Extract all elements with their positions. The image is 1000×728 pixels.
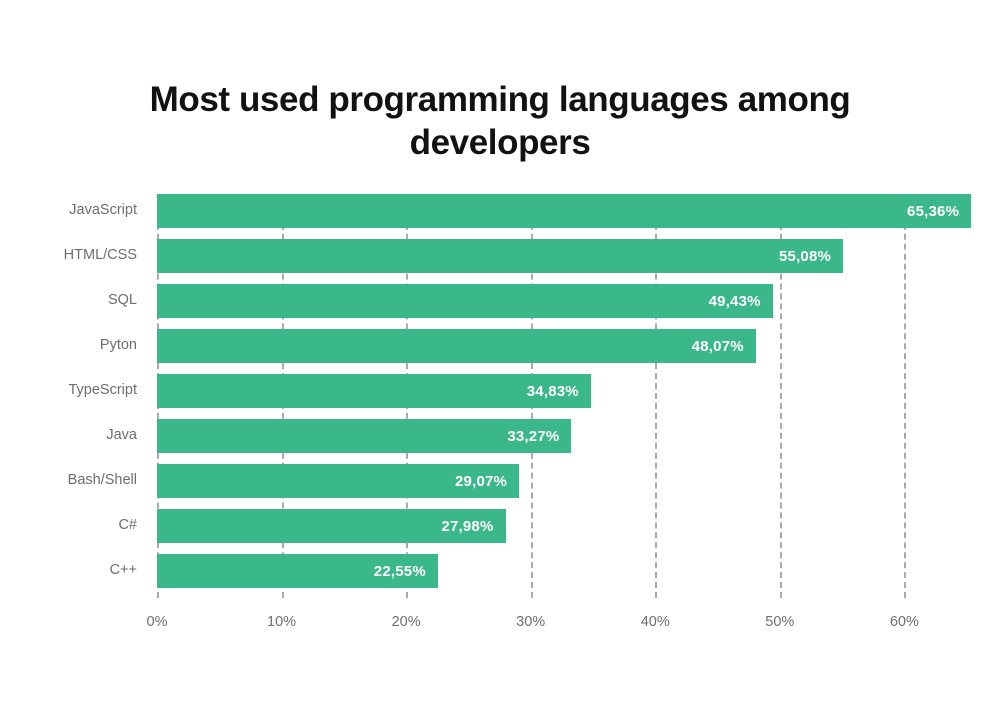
x-tick-label: 40%	[641, 614, 670, 630]
bar[interactable]: 48,07%	[157, 329, 756, 363]
x-axis-tick-labels: 0%10%20%30%40%50%60%	[157, 614, 933, 644]
category-label: Pyton	[7, 337, 137, 353]
category-label: C++	[7, 562, 137, 578]
x-tick-label: 20%	[392, 614, 421, 630]
category-label: Bash/Shell	[7, 472, 137, 488]
bar-row: 29,07%	[157, 464, 933, 498]
bar-row: 34,83%	[157, 374, 933, 408]
category-label: HTML/CSS	[7, 247, 137, 263]
bar-value-label: 65,36%	[907, 203, 971, 220]
bar-value-label: 55,08%	[779, 248, 843, 265]
bar-value-label: 48,07%	[692, 338, 756, 355]
x-tick-label: 30%	[516, 614, 545, 630]
bar-row: 55,08%	[157, 239, 933, 273]
category-label: Java	[7, 427, 137, 443]
bar-row: 33,27%	[157, 419, 933, 453]
bar[interactable]: 65,36%	[157, 194, 971, 228]
bar[interactable]: 33,27%	[157, 419, 571, 453]
category-label: TypeScript	[7, 382, 137, 398]
bar-value-label: 49,43%	[709, 293, 773, 310]
bar[interactable]: 49,43%	[157, 284, 773, 318]
bar-value-label: 27,98%	[441, 518, 505, 535]
bar[interactable]: 27,98%	[157, 509, 506, 543]
bar-value-label: 33,27%	[507, 428, 571, 445]
x-tick-label: 60%	[890, 614, 919, 630]
bar[interactable]: 55,08%	[157, 239, 843, 273]
category-label: SQL	[7, 292, 137, 308]
bar-value-label: 34,83%	[527, 383, 591, 400]
category-label: C#	[7, 517, 137, 533]
y-axis-category-labels: JavaScriptHTML/CSSSQLPytonTypeScriptJava…	[0, 194, 137, 598]
plot-area: 65,36%55,08%49,43%48,07%34,83%33,27%29,0…	[157, 194, 933, 598]
bar[interactable]: 22,55%	[157, 554, 438, 588]
bar-value-label: 29,07%	[455, 473, 519, 490]
bar-row: 65,36%	[157, 194, 933, 228]
x-tick-label: 0%	[147, 614, 168, 630]
category-label: JavaScript	[7, 202, 137, 218]
bar-row: 48,07%	[157, 329, 933, 363]
chart-title: Most used programming languages among de…	[110, 78, 890, 164]
bar-row: 27,98%	[157, 509, 933, 543]
x-tick-label: 50%	[765, 614, 794, 630]
bar-chart-figure: Most used programming languages among de…	[0, 0, 1000, 728]
bar[interactable]: 34,83%	[157, 374, 591, 408]
bar-row: 49,43%	[157, 284, 933, 318]
x-tick-label: 10%	[267, 614, 296, 630]
bar-value-label: 22,55%	[374, 563, 438, 580]
bar-row: 22,55%	[157, 554, 933, 588]
bar[interactable]: 29,07%	[157, 464, 519, 498]
